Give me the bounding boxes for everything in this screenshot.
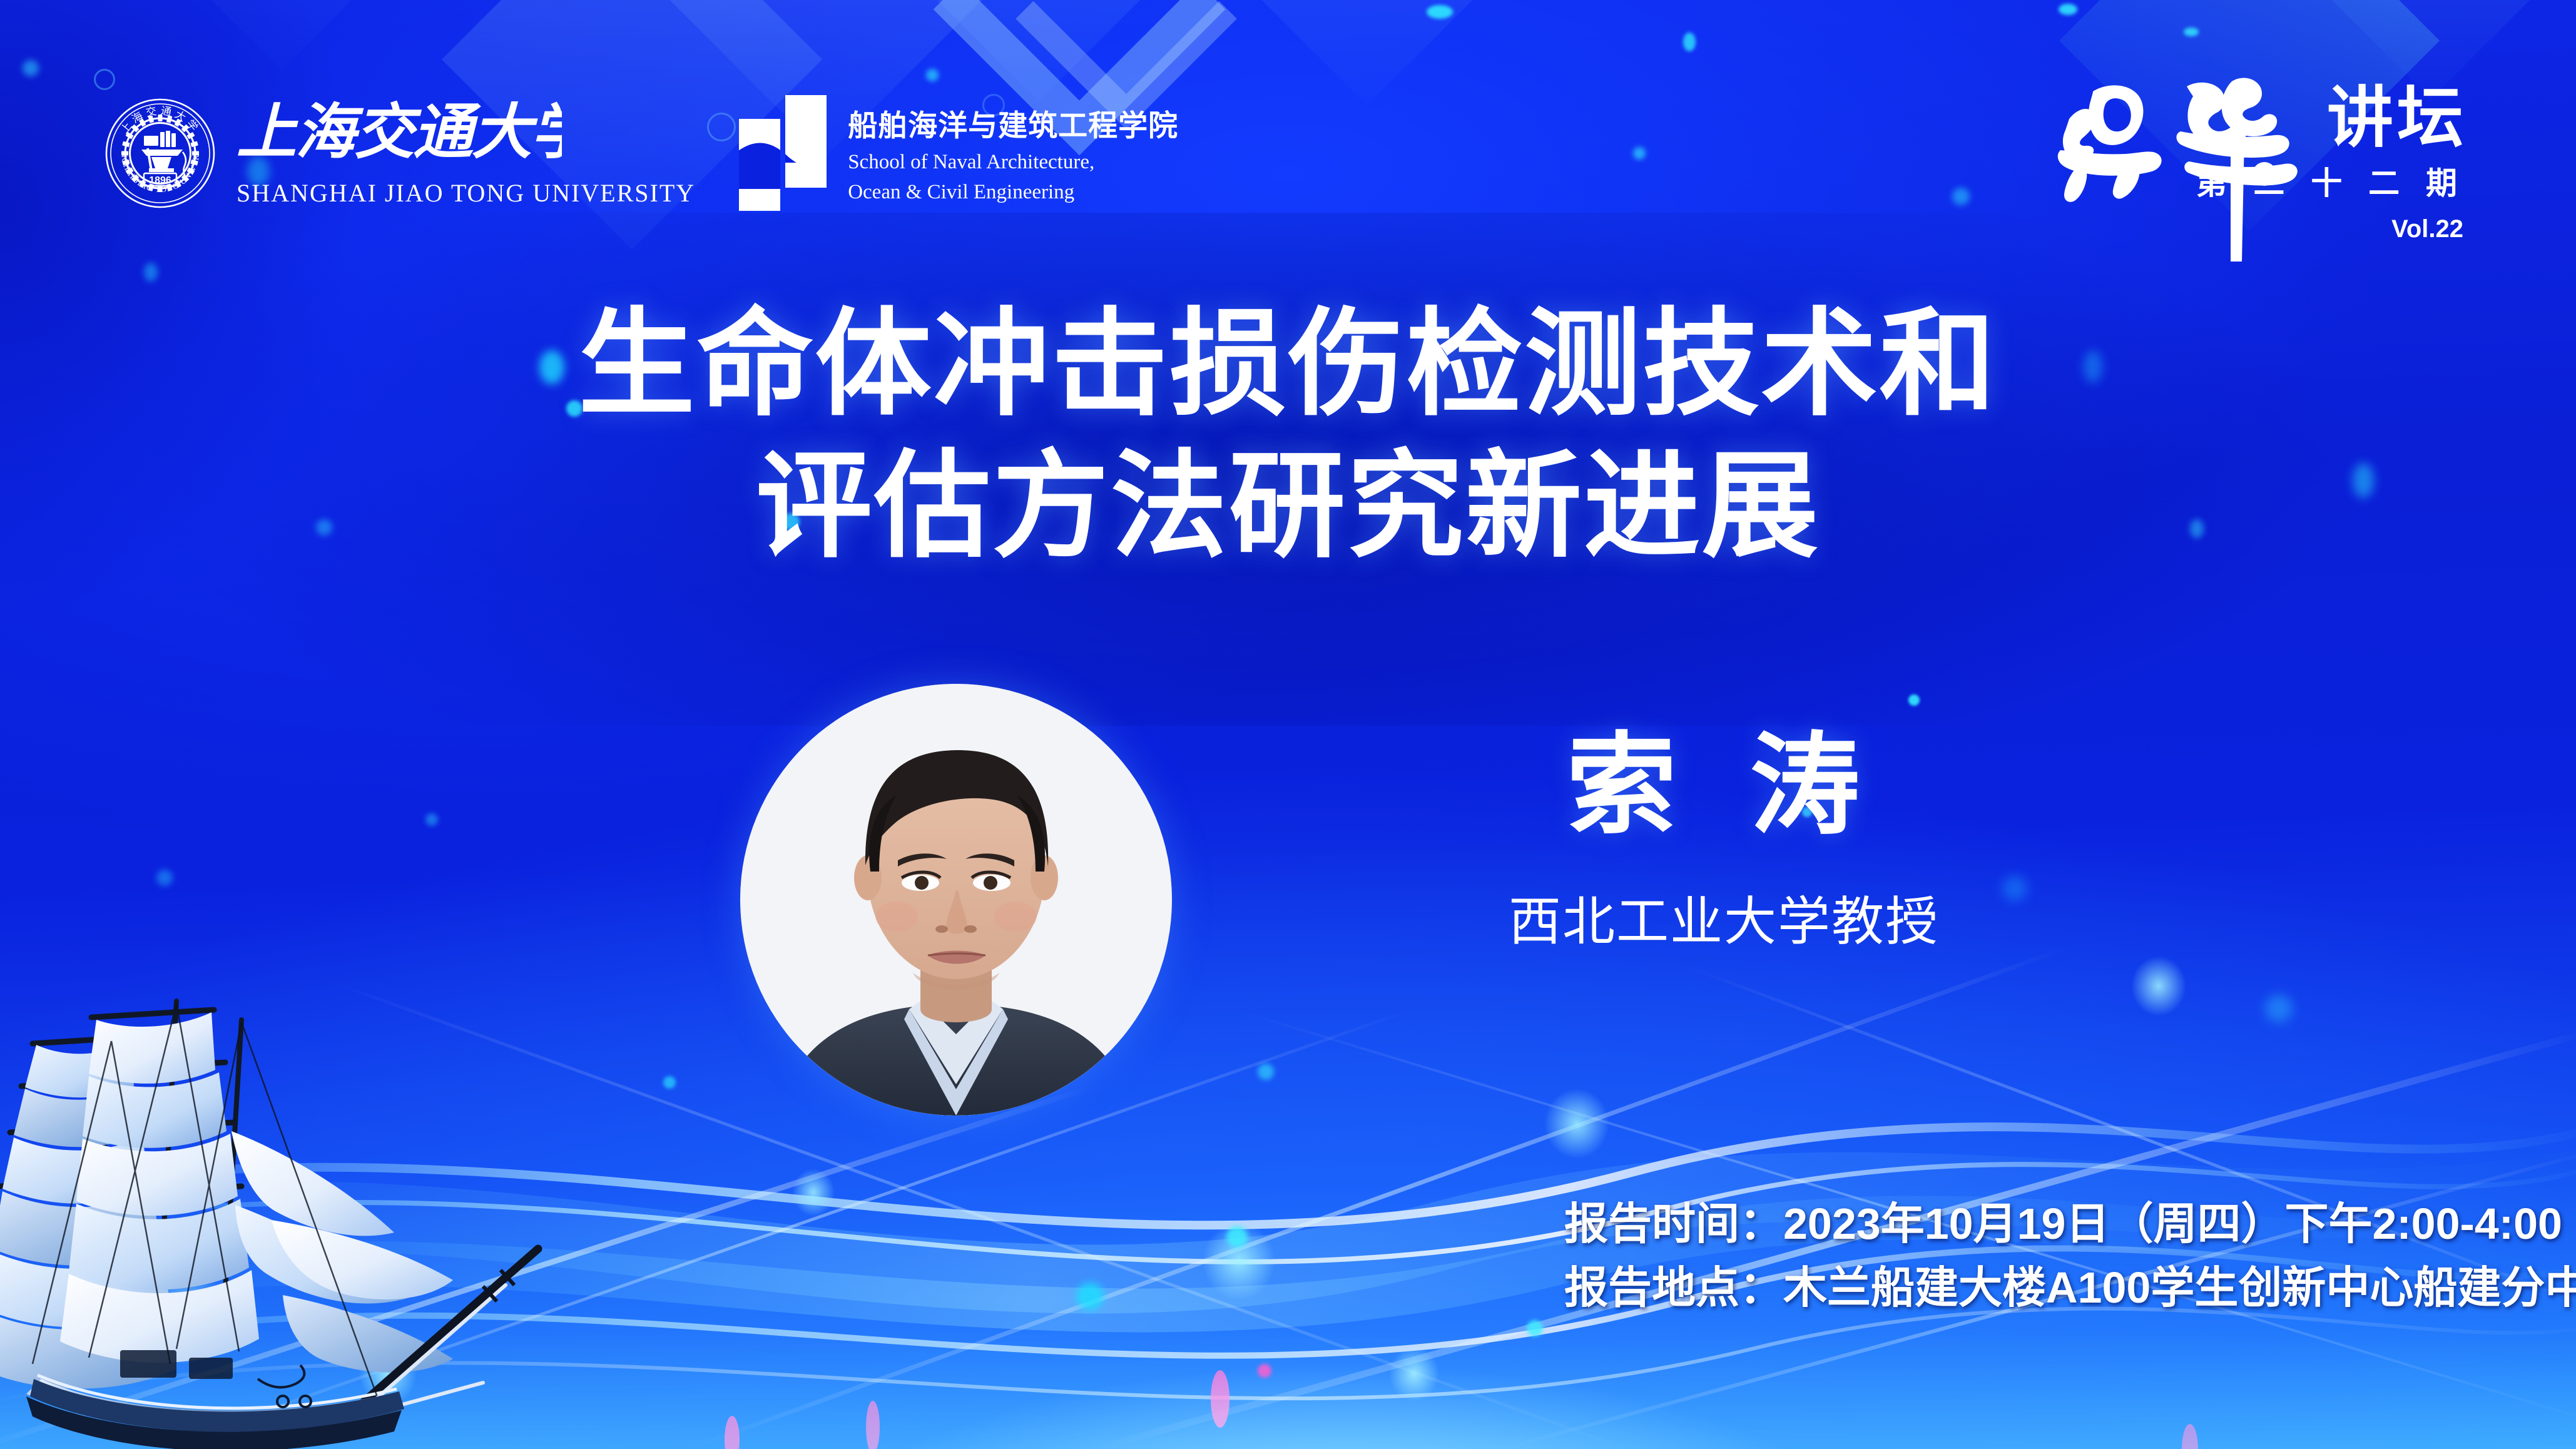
sjtu-seal-icon: 1896 SHANGHAI JIAO TONG UNIVERSITY 上海交通大… bbox=[105, 98, 215, 208]
speaker-name: 索 涛 bbox=[1333, 726, 2115, 847]
naval-school-name-cn: 船舶海洋与建筑工程学院 bbox=[848, 101, 1178, 145]
naval-school-text: 船舶海洋与建筑工程学院 School of Naval Architecture… bbox=[848, 101, 1178, 205]
forum-calligraphy-icon bbox=[2033, 56, 2302, 263]
brand-row: 1896 SHANGHAI JIAO TONG UNIVERSITY 上海交通大… bbox=[105, 95, 1178, 211]
poster-title: 生命体冲击损伤检测技术和 评估方法研究新进展 bbox=[0, 294, 2576, 578]
title-line-2: 评估方法研究新进展 bbox=[0, 436, 2576, 578]
poster-canvas: 1896 SHANGHAI JIAO TONG UNIVERSITY 上海交通大… bbox=[0, 0, 2576, 1449]
title-line-1: 生命体冲击损伤检测技术和 bbox=[0, 294, 2576, 436]
naval-school-logo-icon bbox=[739, 95, 827, 211]
sjtu-name-en: SHANGHAI JIAO TONG UNIVERSITY bbox=[237, 178, 695, 208]
sjtu-wordmark: 上海交通大学 SHANGHAI JIAO TONG UNIVERSITY bbox=[237, 99, 695, 208]
naval-school-name-en-2: Ocean & Civil Engineering bbox=[848, 180, 1178, 205]
event-place: 报告地点：木兰船建大楼A100学生创新中心船建分中心 bbox=[1564, 1256, 2540, 1319]
event-time: 报告时间：2023年10月19日（周四）下午2:00-4:00 bbox=[1564, 1192, 2540, 1256]
svg-text:上海交通大学: 上海交通大学 bbox=[237, 99, 562, 166]
naval-school-block: 船舶海洋与建筑工程学院 School of Naval Architecture… bbox=[739, 95, 1178, 211]
forum-volume-label: Vol.22 bbox=[2391, 216, 2463, 241]
speaker-block: 索 涛 西北工业大学教授 bbox=[1333, 726, 2115, 955]
speaker-avatar bbox=[740, 684, 1172, 1116]
forum-logo: 讲坛 第 二 十 二 期 Vol.22 bbox=[2033, 63, 2508, 263]
poster-header: 1896 SHANGHAI JIAO TONG UNIVERSITY 上海交通大… bbox=[0, 0, 2576, 206]
sjtu-name-cn: 上海交通大学 bbox=[237, 99, 695, 172]
sailing-ship-illustration-icon bbox=[0, 963, 552, 1449]
naval-school-name-en-1: School of Naval Architecture, bbox=[848, 150, 1178, 175]
forum-issue-label: 第 二 十 二 期 bbox=[2196, 168, 2466, 199]
forum-name-cn: 讲坛 bbox=[2327, 85, 2467, 151]
speaker-affiliation: 西北工业大学教授 bbox=[1333, 880, 2115, 955]
event-info-block: 报告时间：2023年10月19日（周四）下午2:00-4:00 报告地点：木兰船… bbox=[1564, 1192, 2540, 1319]
